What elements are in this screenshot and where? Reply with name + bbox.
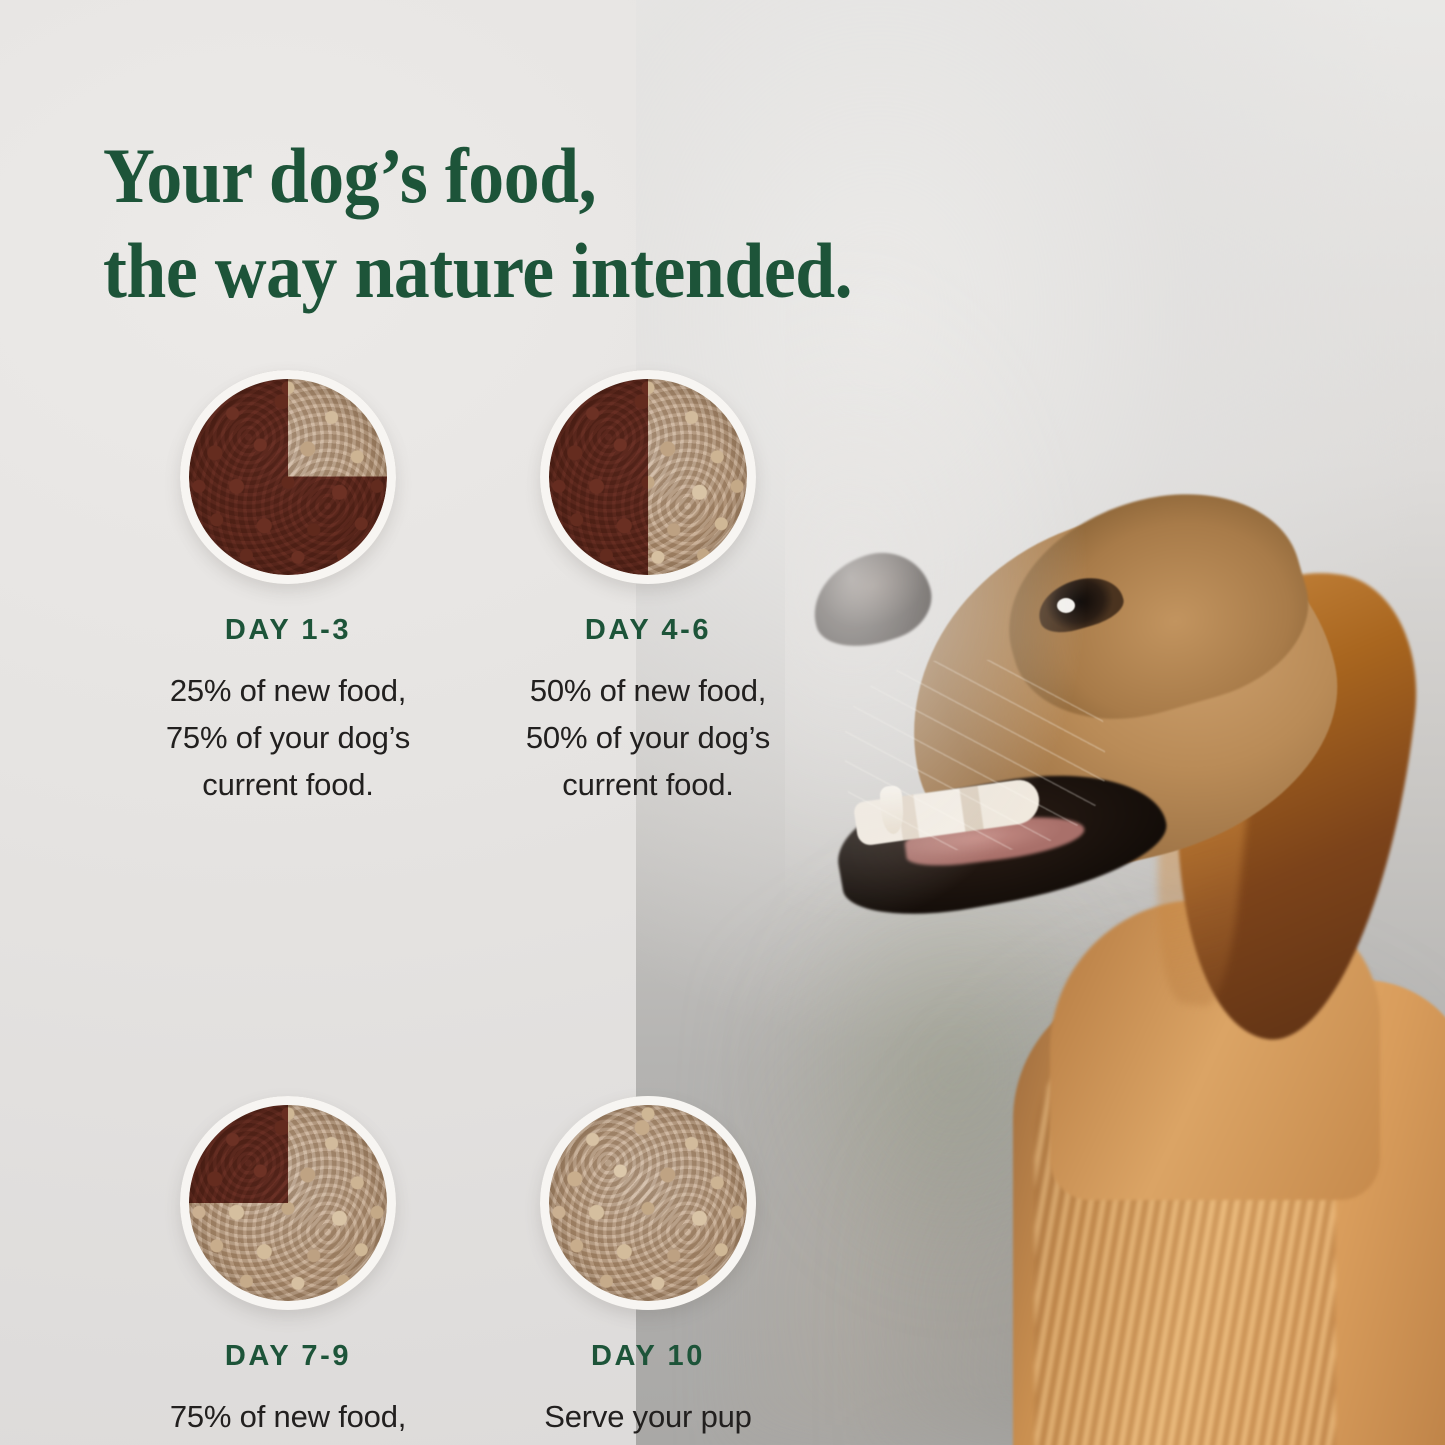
- step-card-day-4-6: DAY 4-6 50% of new food, 50% of your dog…: [468, 370, 828, 808]
- kibble-fill: [549, 378, 747, 575]
- step-description: Serve your pup 100% of new food!: [521, 1393, 774, 1445]
- bowl-icon-day-7-9: [180, 1096, 396, 1310]
- bowl-icon-day-1-3: [180, 370, 396, 584]
- steps-row-1: DAY 1-3 25% of new food, 75% of your dog…: [108, 370, 828, 808]
- step-card-day-1-3: DAY 1-3 25% of new food, 75% of your dog…: [108, 370, 468, 808]
- current-food-overlay: [549, 378, 648, 575]
- bowl-icon-day-4-6: [540, 370, 756, 584]
- step-description: 50% of new food, 50% of your dog’s curre…: [526, 667, 770, 808]
- step-description: 75% of new food, 25% of your dog’s curre…: [166, 1393, 410, 1445]
- page-title: Your dog’s food, the way nature intended…: [103, 128, 1005, 318]
- transition-steps-grid: DAY 1-3 25% of new food, 75% of your dog…: [108, 370, 828, 1445]
- transition-guide-poster: Your dog’s food, the way nature intended…: [0, 0, 1445, 1445]
- step-day-label: DAY 7-9: [225, 1340, 351, 1373]
- step-card-day-7-9: DAY 7-9 75% of new food, 25% of your dog…: [108, 808, 468, 1445]
- step-card-day-10: DAY 10 Serve your pup 100% of new food!: [468, 808, 828, 1445]
- step-day-label: DAY 1-3: [225, 614, 351, 647]
- kibble-fill: [189, 378, 387, 575]
- bowl: [540, 1096, 756, 1310]
- kibble-fill: [549, 1104, 747, 1301]
- steps-row-2: DAY 7-9 75% of new food, 25% of your dog…: [108, 808, 828, 1445]
- kibble-fill: [189, 1104, 387, 1301]
- bowl-icon-day-10: [540, 1096, 756, 1310]
- bowl: [180, 370, 396, 584]
- step-day-label: DAY 10: [591, 1340, 705, 1373]
- background-cool-haze: [867, 780, 1445, 1445]
- current-food-overlay: [189, 378, 387, 575]
- step-description: 25% of new food, 75% of your dog’s curre…: [166, 667, 410, 808]
- step-day-label: DAY 4-6: [585, 614, 711, 647]
- bowl: [540, 370, 756, 584]
- bowl: [180, 1096, 396, 1310]
- current-food-overlay: [189, 1104, 288, 1203]
